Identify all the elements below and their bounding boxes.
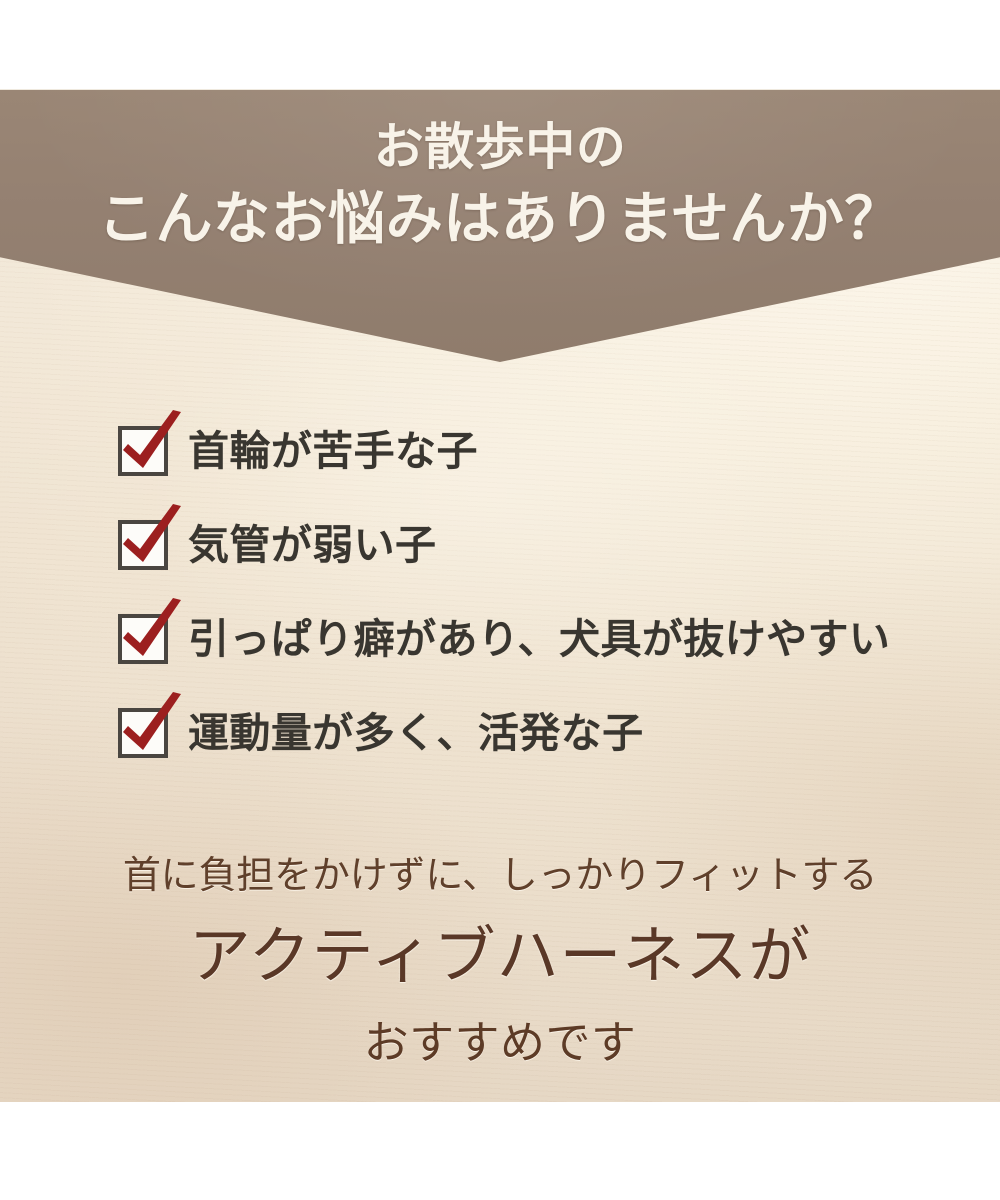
list-item: 運動量が多く、活発な子 (118, 686, 948, 780)
promo-page: お散歩中の こんなお悩みはありませんか？ 首輪が苦手な子 気管が弱い子 (0, 0, 1000, 1200)
checkbox-checked[interactable] (118, 426, 168, 476)
list-item-label: 引っぱり癖があり、犬具が抜けやすい (188, 619, 890, 660)
list-item: 首輪が苦手な子 (118, 404, 948, 498)
recommendation-line-1: 首に負担をかけずに、しっかりフィットする (0, 846, 1000, 904)
recommendation-line-3: おすすめです (0, 1008, 1000, 1078)
list-item-label: 気管が弱い子 (188, 525, 436, 566)
checkbox-checked[interactable] (118, 614, 168, 664)
checkmark-icon (113, 500, 187, 570)
checkmark-icon (113, 594, 187, 664)
checkmark-icon (113, 688, 187, 758)
list-item-label: 首輪が苦手な子 (188, 431, 478, 472)
recommendation-product-name: アクティブハーネスが (0, 904, 1000, 1008)
checkbox-checked[interactable] (118, 708, 168, 758)
list-item: 引っぱり癖があり、犬具が抜けやすい (118, 592, 948, 686)
checkmark-icon (113, 406, 187, 476)
list-item-label: 運動量が多く、活発な子 (188, 713, 644, 754)
list-item: 気管が弱い子 (118, 498, 948, 592)
problem-checklist: 首輪が苦手な子 気管が弱い子 引っぱり癖があり、犬具が抜けやすい (118, 404, 948, 780)
recommendation-copy: 首に負担をかけずに、しっかりフィットする アクティブハーネスが おすすめです (0, 846, 1000, 1078)
checkbox-checked[interactable] (118, 520, 168, 570)
